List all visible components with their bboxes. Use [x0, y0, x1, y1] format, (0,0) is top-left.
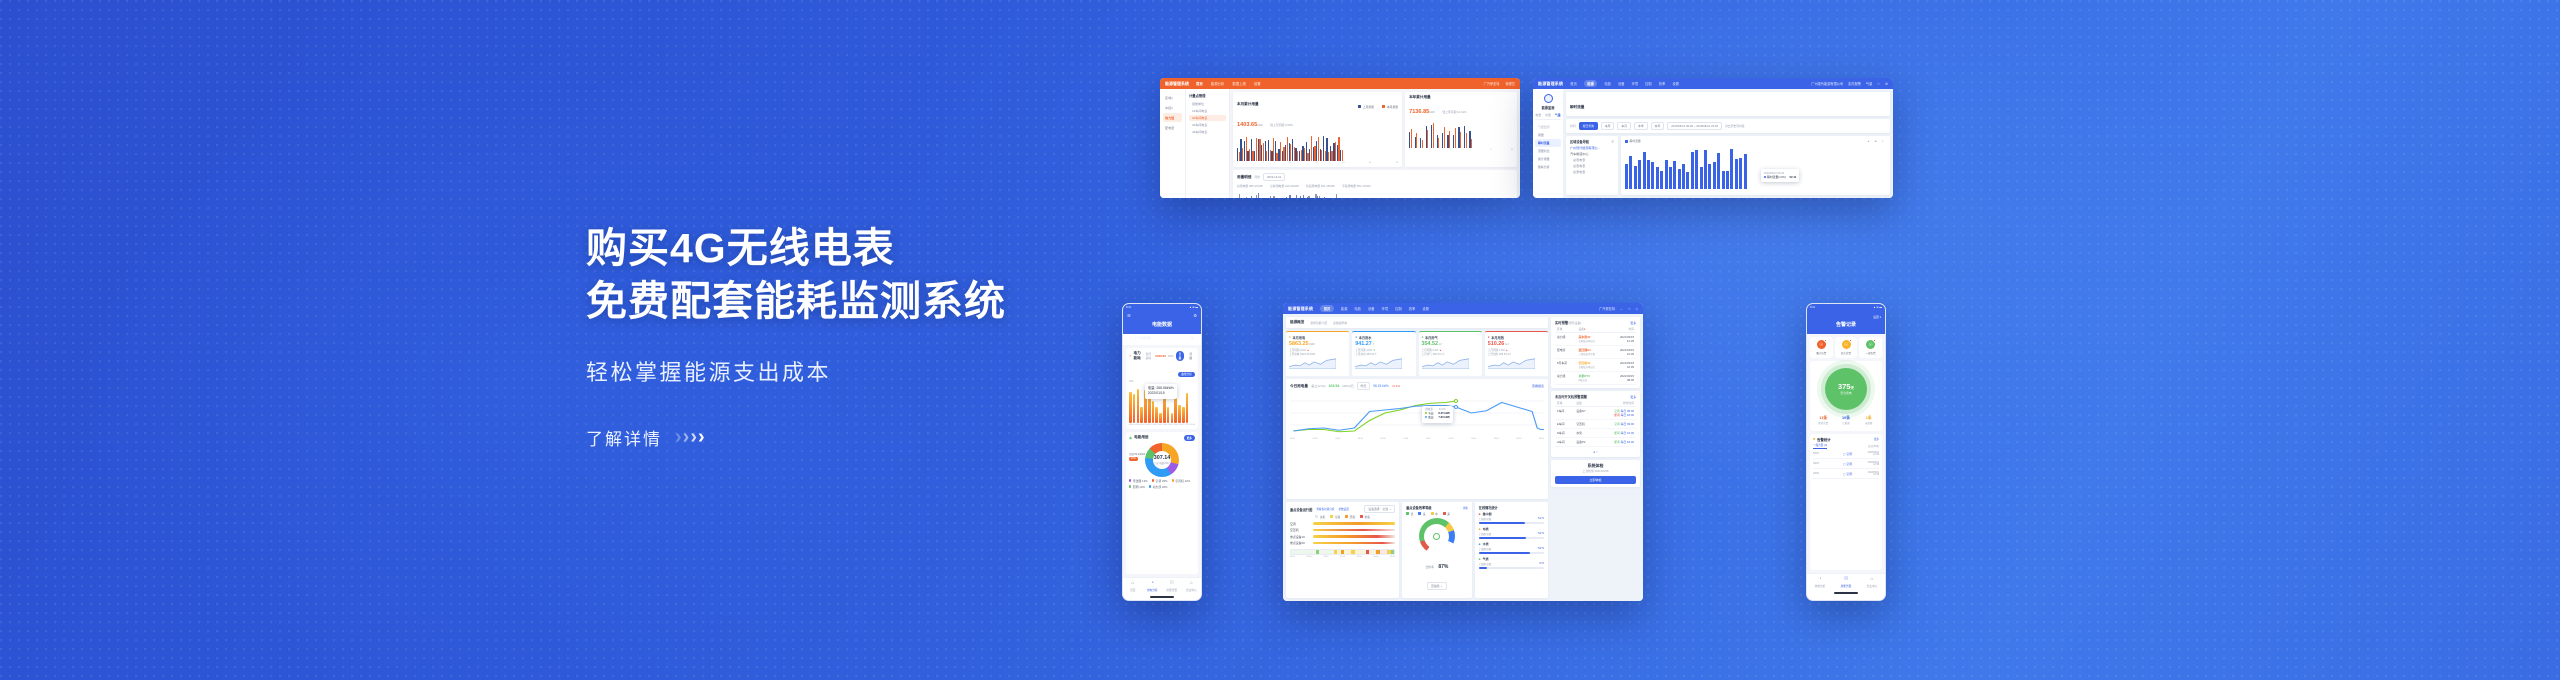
c-aside: 实时预警 (所有设备) 更多 区域 设备● 时间 动力组深水泵3#长期低功率运行…: [1551, 314, 1643, 601]
kpi-sparkline: [1289, 358, 1336, 369]
tab-enterprise-center[interactable]: ⌂企业中心: [1182, 578, 1202, 594]
bar-pair: [1409, 129, 1412, 148]
page-title: 购买4G无线电表 免费配套能耗监测系统: [586, 222, 1206, 329]
tr-side-tab-0[interactable]: 电量: [1535, 113, 1541, 117]
bar-pair: [1442, 127, 1445, 148]
table-row[interactable]: 动力组深水泵3#长期低功率运行2021/03/1512:35: [1555, 333, 1636, 346]
tl-nav-item-0[interactable]: 首页: [1196, 81, 1203, 86]
tab-enterprise-center[interactable]: ⌂企业中心: [1859, 574, 1885, 590]
tl-user[interactable]: 管理员: [1505, 81, 1515, 86]
today-select[interactable]: 昨天: [1357, 382, 1371, 390]
tl-card2-unit: kWh: [1429, 110, 1435, 114]
screenshot-energy-report-desktop[interactable]: 能源管理系统 首页 能源分析 数据上报 设置 广汽菲亚特 管理员 区域1 中控1…: [1160, 78, 1520, 198]
run-row-bar: [1313, 535, 1395, 538]
tr-main: 瞬时流量 时间 按日查询 本周 本月 本季 本年 2019/06/21 00:0…: [1563, 89, 1893, 198]
table-row[interactable]: 动力组水泵KT38档过高2021/03/1508:36: [1555, 372, 1636, 385]
overview-title: 能源概览: [1290, 320, 1304, 325]
kpi-row: ●本月用电5863.25 kWh上月同期 9.6% ▲上月用电 5319.45 …: [1286, 331, 1548, 376]
tr-tree-root[interactable]: 广州现代能源有限公...: [1570, 147, 1614, 151]
tl-card1-axis: 151015202530: [1237, 162, 1398, 164]
tab-power-analysis[interactable]: ◔用电分析: [1807, 574, 1833, 590]
tr-tree-node-2[interactable]: 总表电表: [1570, 165, 1614, 169]
tl-tree-node-4[interactable]: 4#车间电表: [1189, 128, 1226, 135]
tr-filter-4[interactable]: 本年: [1651, 122, 1665, 130]
device-run-card: 重点设备运行图 查看各时段分析 参数设置 设备选择：全选 ⌄ 关机空载轻载重载 …: [1286, 502, 1399, 598]
run-legend: 关机空载轻载重载: [1290, 515, 1395, 519]
phone-r-tabbar[interactable]: ◔用电分析 ☉用能告警 ⌂企业中心: [1807, 573, 1885, 590]
tr-filter-2[interactable]: 本月: [1617, 122, 1631, 130]
online-stats-card: 在线情况统计 ■集中器上线数/总数51/72■电表上线数/总数52/72■水表上…: [1475, 502, 1548, 598]
eff-title: 重点设备效率等级: [1406, 505, 1432, 510]
bell-icon[interactable]: ☉: [1877, 82, 1880, 86]
tl-side-item-0[interactable]: 区域1: [1163, 93, 1182, 102]
table-row[interactable]: E车间空压机空闲 每日 09:00: [1555, 420, 1636, 429]
maint-area: F车间: [1555, 407, 1574, 420]
legend-item: 中: [1431, 512, 1438, 516]
list-filter[interactable]: 一般告警 (3): [1813, 443, 1827, 449]
tab-energy-alarm[interactable]: ☉用能告警: [1162, 578, 1182, 594]
hero-subtitle: 轻松掌握能源支出成本: [586, 355, 1206, 387]
bell-icon: ☉: [1866, 340, 1875, 349]
overview-link-0[interactable]: 新增功能介绍: [1310, 321, 1327, 325]
table-row[interactable]: N车间水泵断闲 每日 16:00: [1555, 429, 1636, 438]
alarm-desc: 8档过高: [1578, 378, 1606, 382]
tl-card1-value: 1403.65: [1237, 122, 1257, 128]
bar: [1673, 161, 1676, 189]
alarm-row-device: ▢空调: [1829, 462, 1866, 466]
today-report-link[interactable]: 查看报表: [1532, 384, 1544, 388]
screenshot-energy-overview-desktop[interactable]: 能源管理系统 首页 能源 电费 设备 环境 控制 效率 设置 广汽菲亚特 ⌄ ☉…: [1283, 303, 1643, 601]
bar: [1695, 150, 1698, 189]
tr-side-tabs[interactable]: 电量 水量 气量: [1535, 113, 1561, 120]
alarm-type-label: 一般告警: [1860, 351, 1881, 355]
tr-side-item-4[interactable]: 能耗分析: [1535, 163, 1561, 171]
eff-link[interactable]: 详情: [1463, 506, 1468, 510]
bar-pair: [1258, 193, 1261, 198]
tr-side-item-2[interactable]: 流量对比: [1535, 147, 1561, 155]
table-row[interactable]: 配电室变压器H1三相电流不平衡2021/03/1510:39: [1555, 346, 1636, 359]
legend-item: 引风机 12%: [1172, 479, 1191, 483]
bar-pair: [1437, 135, 1440, 148]
maint-col-2: 检查时间: [1596, 399, 1636, 407]
run-device-select[interactable]: 设备选择：全选 ⌄: [1364, 505, 1395, 513]
maint-times: 断闲 每日 18:00: [1596, 438, 1636, 447]
bell-icon: ☉: [1842, 340, 1851, 349]
tr-filter-label: 时间: [1570, 124, 1576, 128]
online-row-name: ■集中器: [1479, 512, 1544, 516]
bar-pair: [1335, 194, 1338, 198]
maint-times: 空闲 每日 09:00: [1596, 420, 1636, 429]
run-timeline[interactable]: [1290, 549, 1395, 555]
building-icon: ⌂: [1870, 576, 1873, 582]
kpi-title: ●本月用电: [1289, 335, 1346, 340]
pie-icon: ◔: [1151, 580, 1154, 586]
alarm-row-time: 2018/08/1112:56: [1868, 462, 1879, 466]
maint-times: 空闲 每日 08:00断闲 每日 18:00: [1596, 407, 1636, 420]
tl-card-year: 本年累计用量 7136.85kWh 较上年同期 12.41% 1357911: [1405, 92, 1517, 167]
alarm-table: 区域 设备● 时间 动力组深水泵3#长期低功率运行2021/03/1512:35…: [1555, 325, 1636, 385]
online-row-progress: [1479, 522, 1544, 524]
run-link-1[interactable]: 参数设置: [1338, 507, 1348, 511]
alarm-area: 8号车间: [1555, 359, 1576, 372]
tr-nav-item-2[interactable]: 电费: [1604, 81, 1611, 86]
gas-icon: ●: [1422, 335, 1424, 339]
chevron-down-icon[interactable]: ⌄: [1620, 307, 1623, 311]
kpi-prev: 上月用电 5319.45 kWh: [1289, 352, 1346, 356]
tr-nav-item-7[interactable]: 设置: [1672, 81, 1679, 86]
kpi-card: ●本月用电5863.25 kWh上月同期 9.6% ▲上月用电 5319.45 …: [1286, 331, 1349, 376]
phone-r-statusbar: 9:41 ▲ ☰ ▬: [1807, 304, 1885, 311]
alarm-note: (所有设备): [1568, 321, 1581, 325]
tr-nav-item-5[interactable]: 控制: [1645, 81, 1652, 86]
legend-item: 重载: [1360, 515, 1370, 519]
tl-nav-item-3[interactable]: 设置: [1254, 81, 1261, 86]
tt-s1-val: 7.83 kWh: [1438, 416, 1450, 419]
tr-gas-link[interactable]: 气量: [1866, 81, 1872, 86]
alarm-area: 配电室: [1555, 346, 1576, 359]
tl-legend-prev: 上月用量: [1358, 105, 1374, 109]
kpi-prev: 上月用气 352.64 m³: [1422, 352, 1479, 356]
sys-check-button[interactable]: 立即体检: [1555, 476, 1636, 484]
tr-side-item-3[interactable]: 累计用量: [1535, 155, 1561, 163]
maint-device: 设备N7: [1574, 407, 1596, 420]
tab-home[interactable]: ⌂首页: [1123, 578, 1143, 594]
tr-chart-tooltip: 2019/06/21 09:45 瞬时流量(m³/h) 52.41: [1761, 169, 1800, 182]
tl-stat-0: 总用电量 985.37kWh: [1237, 184, 1263, 188]
tr-side-item-1[interactable]: 瞬时流量: [1535, 139, 1561, 147]
tr-nav[interactable]: 首页 能源 电费 设备 环境 控制 效率 设置: [1570, 80, 1679, 87]
bar-pair: [1244, 197, 1247, 198]
efficiency-gauge: [1419, 518, 1455, 554]
expand-icon[interactable]: ☰: [1611, 140, 1614, 144]
bar: [1665, 160, 1668, 189]
tr-alarm-link[interactable]: 实时报警: [1848, 81, 1861, 86]
tl-header-right[interactable]: 广汽菲亚特 管理员: [1484, 81, 1516, 86]
alarm-type-label: 较大告警: [1836, 351, 1857, 355]
phone-r-navbar: 告警记录 设置 ▾: [1807, 311, 1885, 334]
tr-date-range[interactable]: 2019/06/21 00:00 ~ 2019/06/21 23:45: [1667, 122, 1722, 130]
online-row-progress: [1479, 537, 1544, 539]
c-nav-item-3[interactable]: 设备: [1368, 306, 1375, 311]
eff-legend: 优良中差: [1406, 512, 1468, 516]
run-row: 空调: [1290, 522, 1395, 526]
bar-pair: [1453, 128, 1456, 148]
phone-l-tabbar[interactable]: ⌂首页 ◔用电分析 ☉用能告警 ⌂企业中心: [1123, 577, 1201, 594]
alarm-type-item[interactable]: ☉较大告警: [1835, 337, 1858, 358]
tl-legend-cur: 本月用量: [1382, 105, 1398, 109]
alarm-row-pct: 320%: [1813, 462, 1827, 465]
run-title: 重点设备运行图: [1290, 507, 1312, 512]
online-row-label: 上线数/总数: [1479, 562, 1492, 566]
status-icons: ▲ ☰ ▬: [1873, 306, 1882, 309]
tr-tree-node-3[interactable]: 总表电表: [1570, 171, 1614, 175]
tl-date-input[interactable]: 2019-12-01: [1263, 173, 1285, 181]
bell-icon[interactable]: ☉: [1628, 307, 1631, 311]
bar: [1629, 156, 1632, 189]
tr-side-group: 气量监测: [1535, 123, 1561, 131]
tr-tree-node-1[interactable]: 总表电表: [1570, 159, 1614, 163]
table-row[interactable]: H车间设备P2断闲 每日 18:00: [1555, 438, 1636, 447]
c-nav-item-5[interactable]: 控制: [1395, 306, 1402, 311]
status-time: 9:41: [1810, 306, 1815, 309]
learn-more-button[interactable]: 了解详情 › › › ›: [586, 425, 1206, 450]
alarm-rows: 320%▢空调2018/08/1112:56320%▢空调2018/08/111…: [1813, 449, 1879, 479]
legend-item: 差: [1443, 512, 1450, 516]
alarm-stat-label: 未处理: [1858, 421, 1879, 425]
tr-body: 能源监测 电量 水量 气量 气量监测 用量 瞬时流量 流量对比 累计用量 能耗分…: [1533, 89, 1893, 198]
bar-pair: [1272, 196, 1275, 198]
bar: [1669, 167, 1672, 189]
tr-device-tree[interactable]: 区域设备导航 ☰ 广州现代能源有限公... 汽车制造中心 总表电表 总表电表 总…: [1566, 136, 1618, 195]
run-row-bar: [1313, 542, 1395, 545]
c-header-right[interactable]: 广汽菲亚特 ⌄ ☉ ◇: [1599, 306, 1638, 311]
bar-pair: [1268, 196, 1271, 198]
tr-side-tab-2[interactable]: 气量: [1555, 113, 1561, 117]
chevron-right-icon: ›: [675, 427, 682, 447]
eff-rate-label: 合格率: [1426, 565, 1434, 569]
tt-s0-name: 今日: [1428, 412, 1433, 415]
building-icon: ⌂: [1190, 580, 1193, 586]
bar: [1647, 160, 1650, 189]
chart-tools-icons[interactable]: ▲ ■ ⇩: [1867, 139, 1886, 143]
alarm-row-device: ▢空调: [1829, 452, 1866, 456]
alarm-stat-label: 所有告警: [1813, 421, 1834, 425]
table-row[interactable]: 8号车间空压机3#长期低功率运行2021/03/1510:05: [1555, 359, 1636, 372]
maintenance-alarm-card: 未及时开关机预警提醒 更多 区域 设备 检查时间 F车间设备N7空闲 每日 08…: [1551, 391, 1640, 457]
tl-tree-node-2[interactable]: 2#车间电表: [1189, 115, 1226, 122]
bar: [1708, 164, 1711, 189]
tl-tree-node-1[interactable]: 1#车间电表: [1189, 108, 1226, 115]
today-usage-card: 今日用电量 (截止12:00) 103.54 kWh/H日 昨天 98.25 k…: [1286, 379, 1548, 499]
alarm-row-device: ▢空调: [1829, 472, 1866, 476]
tr-filter-bar[interactable]: 时间 按日查询 本周 本月 本季 本年 2019/06/21 00:00 ~ 2…: [1566, 119, 1890, 133]
kpi-value: 941.27 T: [1355, 341, 1412, 347]
legend-item: 轻载: [1345, 515, 1355, 519]
bar-pair: [1314, 194, 1317, 198]
tl-nav-item-2[interactable]: 数据上报: [1232, 81, 1246, 86]
gear-icon[interactable]: ⚙: [1885, 82, 1888, 86]
tl-card1-title: 本月累计用量: [1237, 102, 1259, 107]
alarm-stat: 1条未处理: [1858, 414, 1879, 428]
today-compare-pct: +5.4%: [1392, 384, 1401, 388]
overview-link-1[interactable]: 系统说明书: [1333, 321, 1347, 325]
tr-compare-checkbox[interactable]: 对比历史同时段: [1725, 124, 1745, 128]
c-nav[interactable]: 首页 能源 电费 设备 环境 控制 效率 设置: [1320, 305, 1429, 312]
carousel-dots[interactable]: ● ○: [1555, 450, 1636, 454]
drop-icon[interactable]: ◇: [1636, 307, 1638, 311]
bar-pair: [1340, 150, 1343, 161]
tr-logo: 能源管理系统: [1538, 81, 1563, 87]
c-logo: 能源管理系统: [1288, 306, 1313, 312]
tl-sidebar[interactable]: 区域1 中控1 动力组 配电室: [1160, 89, 1186, 198]
bar-pair: [1300, 196, 1303, 198]
tr-company[interactable]: 广州现代能源有限公司: [1811, 81, 1843, 86]
bar-pair: [1317, 196, 1320, 198]
tr-tooltip-series: 瞬时流量(m³/h): [1767, 175, 1786, 179]
table-row[interactable]: F车间设备N7空闲 每日 08:00断闲 每日 18:00: [1555, 407, 1636, 420]
alarm-col-0: 区域: [1555, 325, 1576, 333]
bar: [1713, 162, 1716, 189]
chevron-group: › › › ›: [675, 427, 705, 447]
home-icon: ⌂: [1131, 580, 1134, 586]
tl-detail-panel: 用量明细 月份 2019-12-01 总用电量 985.37kWh 尖峰用电量 …: [1233, 170, 1517, 198]
device-efficiency-card: 重点设备效率等级 详情 优良中差 合格率 87% 压缩机 ⌄: [1402, 502, 1472, 598]
list-item[interactable]: 320%▢空调2018/08/1112:56: [1813, 449, 1879, 459]
bar-pair: [1420, 138, 1423, 149]
headline-line-2: 免费配套能耗监测系统: [586, 275, 1206, 328]
alarm-stat: 11条所有告警: [1813, 414, 1834, 428]
tl-side-item-1[interactable]: 中控1: [1163, 103, 1182, 112]
bar: [1735, 159, 1738, 189]
sys-sub: 上次检测 2021/03/08: [1555, 469, 1636, 473]
c-company[interactable]: 广汽菲亚特: [1599, 306, 1615, 311]
alarm-more[interactable]: 更多: [1630, 321, 1636, 325]
tl-card2-sub: 较上年同期 12.41%: [1442, 110, 1466, 114]
online-title: 在线情况统计: [1479, 505, 1544, 510]
screenshot-flow-monitor-desktop[interactable]: 能源管理系统 首页 能源 电费 设备 环境 控制 效率 设置 广州现代能源有限公…: [1533, 78, 1893, 198]
bar: [1634, 166, 1637, 189]
bar: [1730, 149, 1733, 189]
tr-side-item-0[interactable]: 用量: [1535, 131, 1561, 139]
tl-tree-node-0[interactable]: 用能单位: [1189, 101, 1226, 108]
alarm-desc: 长期低功率运行: [1578, 365, 1606, 369]
bar-pair: [1447, 131, 1450, 148]
alarm-title: 实时预警: [1555, 320, 1568, 325]
maint-col-0: 区域: [1555, 399, 1574, 407]
maint-device: 水泵: [1574, 429, 1596, 438]
c-nav-item-6[interactable]: 效率: [1409, 306, 1416, 311]
bar: [1625, 164, 1628, 189]
tl-stat-1: 尖峰用电量 109.63kWh: [1270, 184, 1299, 188]
c-nav-item-0[interactable]: 首页: [1320, 305, 1334, 312]
tl-body: 区域1 中控1 动力组 配电室 计量点管理 用能单位 1#车间电表 2#车间电表…: [1160, 89, 1520, 198]
bar-pair: [1426, 126, 1429, 148]
online-row-progress: [1479, 567, 1544, 569]
list-title: 告警统计: [1817, 437, 1831, 442]
eff-select[interactable]: 压缩机 ⌄: [1427, 582, 1447, 590]
tr-filter-1[interactable]: 本周: [1601, 122, 1615, 130]
run-row-label: 空压机: [1290, 528, 1310, 532]
today-title: 今日用电量: [1290, 384, 1308, 389]
list-more[interactable]: 更多: [1874, 437, 1879, 441]
maint-table: 区域 设备 检查时间 F车间设备N7空闲 每日 08:00断闲 每日 18:00…: [1555, 399, 1636, 447]
donut-sub: 月总电量(kWh): [1154, 461, 1169, 465]
bar-pair: [1296, 195, 1299, 198]
bar: [1722, 171, 1725, 189]
legend-item: 良: [1418, 512, 1425, 516]
bar-pair: [1254, 195, 1257, 198]
filter-icon[interactable]: 设置 ▾: [1873, 315, 1881, 319]
alarm-area: 动力组: [1555, 372, 1576, 385]
today-unit: kWh/H日: [1342, 384, 1353, 388]
tr-nav-item-4[interactable]: 环境: [1632, 81, 1639, 86]
tab-energy-alarm[interactable]: ☉用能告警: [1833, 574, 1859, 590]
bar: [1691, 152, 1694, 189]
online-row-label: 上线数/总数: [1479, 517, 1492, 521]
run-row: 重点设备1#: [1290, 535, 1395, 539]
bar: [1700, 167, 1703, 189]
tr-sidebar[interactable]: 能源监测 电量 水量 气量 气量监测 用量 瞬时流量 流量对比 累计用量 能耗分…: [1533, 89, 1563, 198]
eff-rate-value: 87%: [1438, 564, 1448, 570]
safe-days-card: 375天 安全用电 11条所有告警10条已处理1条未处理: [1810, 361, 1882, 431]
chevron-right-icon: ›: [690, 427, 697, 447]
bar-pair: [1469, 131, 1472, 148]
c-nav-item-2[interactable]: 电费: [1354, 306, 1361, 311]
home-indicator: [1150, 596, 1174, 598]
c-nav-item-4[interactable]: 环境: [1382, 306, 1389, 311]
tr-nav-item-0[interactable]: 首页: [1570, 81, 1577, 86]
bar-pair: [1431, 123, 1434, 148]
c-nav-item-7[interactable]: 设置: [1422, 306, 1429, 311]
headline-line-1: 购买4G无线电表: [586, 222, 1206, 275]
bar-pair: [1303, 195, 1306, 198]
alarm-row-pct: 320%: [1813, 452, 1827, 455]
list-item[interactable]: 320%▢空调2018/08/1112:56: [1813, 459, 1879, 469]
online-row-value: 9/72: [1539, 562, 1544, 566]
tr-nav-item-1[interactable]: 能源: [1584, 80, 1598, 87]
alarm-type-item[interactable]: ☉重大告警: [1810, 337, 1833, 358]
tr-side-tab-1[interactable]: 水量: [1545, 113, 1551, 117]
card-power-usage: ◉ 电能用途 更多 307.14 月总电量(kWh) 空调 89.23kWh 2…: [1126, 432, 1198, 574]
run-link-0[interactable]: 查看各时段分析: [1316, 507, 1334, 511]
tr-header-right[interactable]: 广州现代能源有限公司 实时报警 气量 ☉ ⚙: [1811, 81, 1888, 86]
tl-stat-3: 平段用电量 681.47kWh: [1342, 184, 1371, 188]
today-compare: 98.25 kWh: [1373, 384, 1388, 388]
bar: [1704, 150, 1707, 189]
c-header: 能源管理系统 首页 能源 电费 设备 环境 控制 效率 设置 广汽菲亚特 ⌄ ☉…: [1283, 303, 1643, 314]
tr-side-title: 能源监测: [1535, 105, 1561, 110]
chevron-right-icon: ›: [698, 427, 705, 447]
alarm-list-card: ■ 告警统计 更多 一般告警 (3) 综合(500) 320%▢空调2018/0…: [1810, 434, 1882, 571]
maint-col-1: 设备: [1574, 399, 1596, 407]
overview-header: 能源概览 新增功能介绍 系统说明书: [1286, 317, 1548, 328]
tl-tree[interactable]: 计量点管理 用能单位 1#车间电表 2#车间电表 3#车间电表 4#车间电表: [1186, 89, 1230, 198]
tl-tree-node-3[interactable]: 3#车间电表: [1189, 121, 1226, 128]
online-row-name: ■水表: [1479, 542, 1544, 546]
learn-more-label: 了解详情: [586, 425, 662, 450]
maint-more[interactable]: 更多: [1630, 395, 1636, 399]
list-item[interactable]: 320%▢空调2018/08/1112:56: [1813, 469, 1879, 479]
alarm-type-item[interactable]: ☉一般告警: [1859, 337, 1882, 358]
run-row-bar: [1313, 522, 1395, 525]
tl-side-item-3[interactable]: 配电室: [1163, 123, 1182, 132]
tl-nav[interactable]: 首页 能源分析 数据上报 设置: [1196, 81, 1261, 86]
tr-filter-0[interactable]: 按日查询: [1579, 122, 1598, 130]
tl-side-item-2[interactable]: 动力组: [1163, 113, 1182, 122]
alarm-type-row[interactable]: ☉重大告警☉较大告警☉一般告警: [1810, 337, 1882, 358]
online-row-progress: [1479, 552, 1544, 554]
tr-filter-3[interactable]: 本季: [1634, 122, 1648, 130]
today-note: (截止12:00): [1311, 384, 1325, 388]
chevron-right-icon: ›: [683, 427, 690, 447]
today-value: 103.54: [1328, 384, 1339, 388]
bar-pair: [1286, 197, 1289, 198]
kpi-card: ●本月用水941.27 T上月同期 1.6% ▼上月用水 956.64 T: [1352, 331, 1415, 376]
flame-icon: ●: [1488, 335, 1490, 339]
tr-nav-item-3[interactable]: 设备: [1618, 81, 1625, 86]
bar-pair: [1415, 133, 1418, 148]
tr-nav-item-6[interactable]: 效率: [1659, 81, 1666, 86]
today-xaxis: 00:0002:0004:0006:0008:0010:0012:0014:00…: [1290, 438, 1544, 440]
run-row: 重点设备2#: [1290, 541, 1395, 545]
tab-power-analysis[interactable]: ◔用电分析: [1143, 578, 1163, 594]
screenshot-phone-alarm-record[interactable]: 9:41 ▲ ☰ ▬ 告警记录 设置 ▾ ☉重大告警☉较大告警☉一般告警 375…: [1806, 303, 1886, 601]
bar-pair: [1289, 195, 1292, 198]
tr-tree-node-0[interactable]: 汽车制造中心: [1570, 153, 1614, 157]
safe-days-unit: 天: [1850, 386, 1854, 390]
tl-nav-item-1[interactable]: 能源分析: [1211, 81, 1225, 86]
c-nav-item-1[interactable]: 能源: [1341, 306, 1348, 311]
